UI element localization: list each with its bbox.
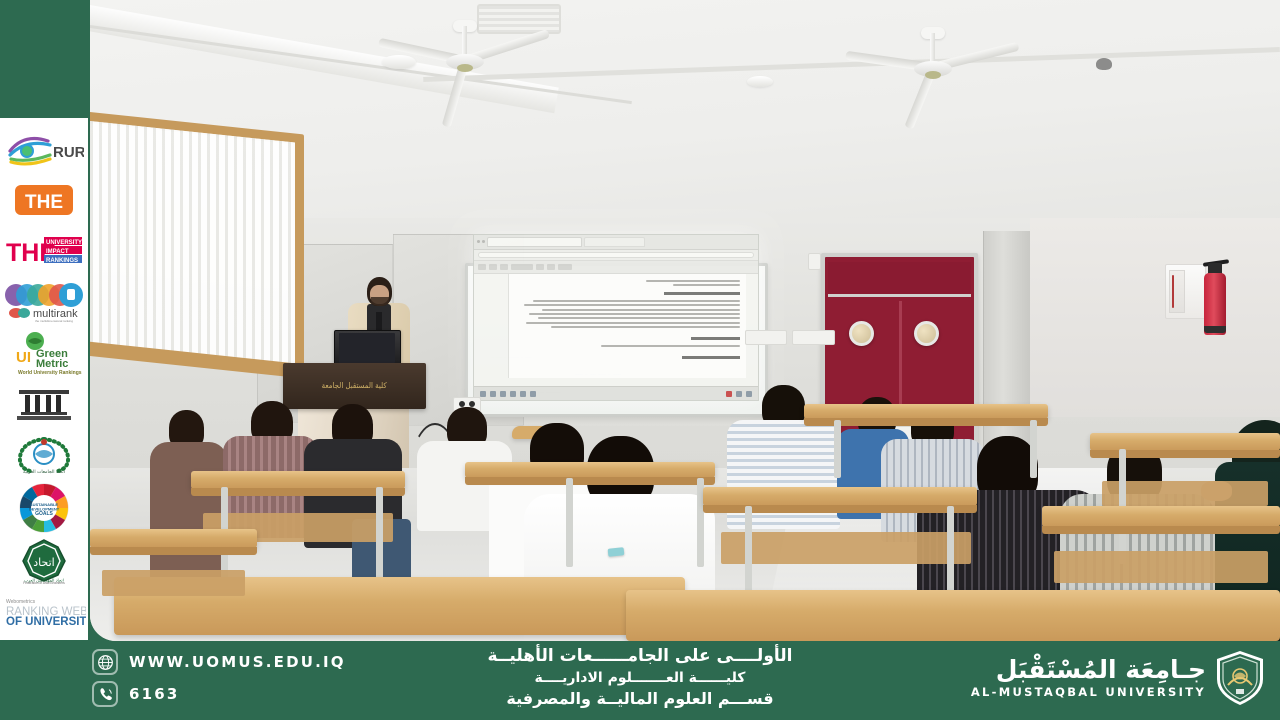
lecture-hall-photograph: ‏ـــ ـ ـــــ ـ ـــ ـ ‏ــــ ـ ــــ ـــ ـ …	[90, 0, 1280, 641]
svg-text:اتحاد الجامعات العربية: اتحاد الجامعات العربية	[23, 470, 65, 475]
svg-text:Metric: Metric	[36, 358, 68, 370]
fire-extinguisher-base	[1204, 326, 1227, 334]
smartphone-on-desk	[607, 547, 624, 557]
arab-scientific-unions-badge[interactable]: اتحاد الجامعات العربية	[2, 431, 86, 480]
student-desk	[1090, 433, 1280, 451]
door-porthole-window	[849, 321, 874, 346]
svg-text:Federation of Arab Engineers: Federation of Arab Engineers	[23, 581, 65, 584]
ceiling-air-vent	[477, 4, 561, 34]
u-multirank-badge[interactable]: multirank the multidimensional ranking	[2, 277, 86, 326]
wall-light-switch[interactable]	[808, 253, 821, 270]
svg-text:RANKINGS: RANKINGS	[46, 258, 78, 264]
university-logo: جـامِعَة المُسْتَقْبَل AL-MUSTAQBAL UNIV…	[971, 649, 1266, 707]
svg-text:THE: THE	[25, 192, 63, 213]
desk-shelf	[1054, 551, 1268, 583]
svg-text:World University Rankings: World University Rankings	[18, 370, 82, 376]
federation-of-arab-engineers-badge[interactable]: اتحاد اتحاد المهندسين العرب Federation o…	[2, 536, 86, 585]
desk-shelf	[1102, 481, 1269, 507]
projected-arabic-document	[473, 234, 759, 401]
security-camera-dome	[1096, 58, 1112, 70]
student-desk	[1042, 506, 1280, 527]
classical-institution-badge[interactable]	[2, 380, 86, 429]
svg-text:RUR: RUR	[53, 144, 84, 161]
the-ranking-badge[interactable]: THE	[2, 175, 86, 224]
ui-greenmetric-badge[interactable]: UI Green Metric World University Ranking…	[2, 328, 86, 377]
webometrics-ranking-web-badge[interactable]: Webometrics RANKING WEB OF UNIVERSITIES	[2, 587, 86, 636]
poster-footer: WWW.UOMUS.EDU.IQ 6163 الأولــــى على الج…	[0, 641, 1280, 720]
lectern-plaque-text: كلية المستقبل الجامعة	[322, 381, 387, 390]
mustaqbal-shield-icon	[1214, 649, 1266, 707]
svg-text:the multidimensional ranking: the multidimensional ranking	[35, 319, 73, 323]
poster-canvas: ‏ـــ ـ ـــــ ـ ـــ ـ ‏ــــ ـ ــــ ـــ ـ …	[0, 0, 1280, 720]
desk-shelf	[721, 532, 971, 564]
svg-text:اتحاد: اتحاد	[33, 556, 54, 569]
wall-column	[983, 231, 1033, 462]
svg-text:OF UNIVERSITIES: OF UNIVERSITIES	[6, 616, 86, 628]
presenter-laptop	[334, 330, 401, 366]
window-with-blinds	[90, 109, 304, 378]
desk-shelf	[102, 570, 245, 596]
desk-leg	[1030, 420, 1037, 478]
student-desk	[626, 590, 1280, 641]
student-desk	[465, 462, 715, 479]
wall-power-socket	[792, 330, 835, 345]
student-desk	[90, 529, 257, 548]
rur-ranking-badge[interactable]: RUR	[2, 124, 86, 173]
ceiling-light-puck	[747, 76, 773, 87]
university-name-arabic: جـامِعَة المُسْتَقْبَل	[971, 657, 1206, 682]
the-impact-rankings-badge[interactable]: THE UNIVERSITY IMPACT RANKINGS	[2, 226, 86, 275]
accreditation-badges-panel: RUR THE THE UNIVERSITY IMPACT RANKINGS	[0, 118, 88, 640]
smoke-detector	[382, 55, 416, 69]
desk-leg	[834, 420, 841, 478]
svg-text:IMPACT: IMPACT	[46, 249, 69, 255]
wall-power-socket	[745, 330, 788, 345]
presenter-beard	[371, 297, 389, 305]
svg-text:UNIVERSITY: UNIVERSITY	[46, 240, 82, 246]
university-name-english: AL-MUSTAQBAL UNIVERSITY	[971, 685, 1206, 699]
door-porthole-window	[914, 321, 939, 346]
svg-text:GOALS: GOALS	[35, 511, 53, 517]
sustainable-development-goals-badge[interactable]: SUSTAINABLE DEVELOPMENT GOALS	[2, 482, 86, 534]
right-side-wall	[1030, 218, 1280, 417]
student-desk	[703, 487, 977, 506]
desk-leg	[566, 478, 573, 568]
lectern-nameplate: كلية المستقبل الجامعة	[283, 363, 426, 409]
svg-text:Webometrics: Webometrics	[6, 599, 36, 605]
svg-text:UI: UI	[16, 349, 31, 366]
student-desk	[804, 404, 1048, 419]
fire-hose-cabinet	[1165, 264, 1207, 319]
